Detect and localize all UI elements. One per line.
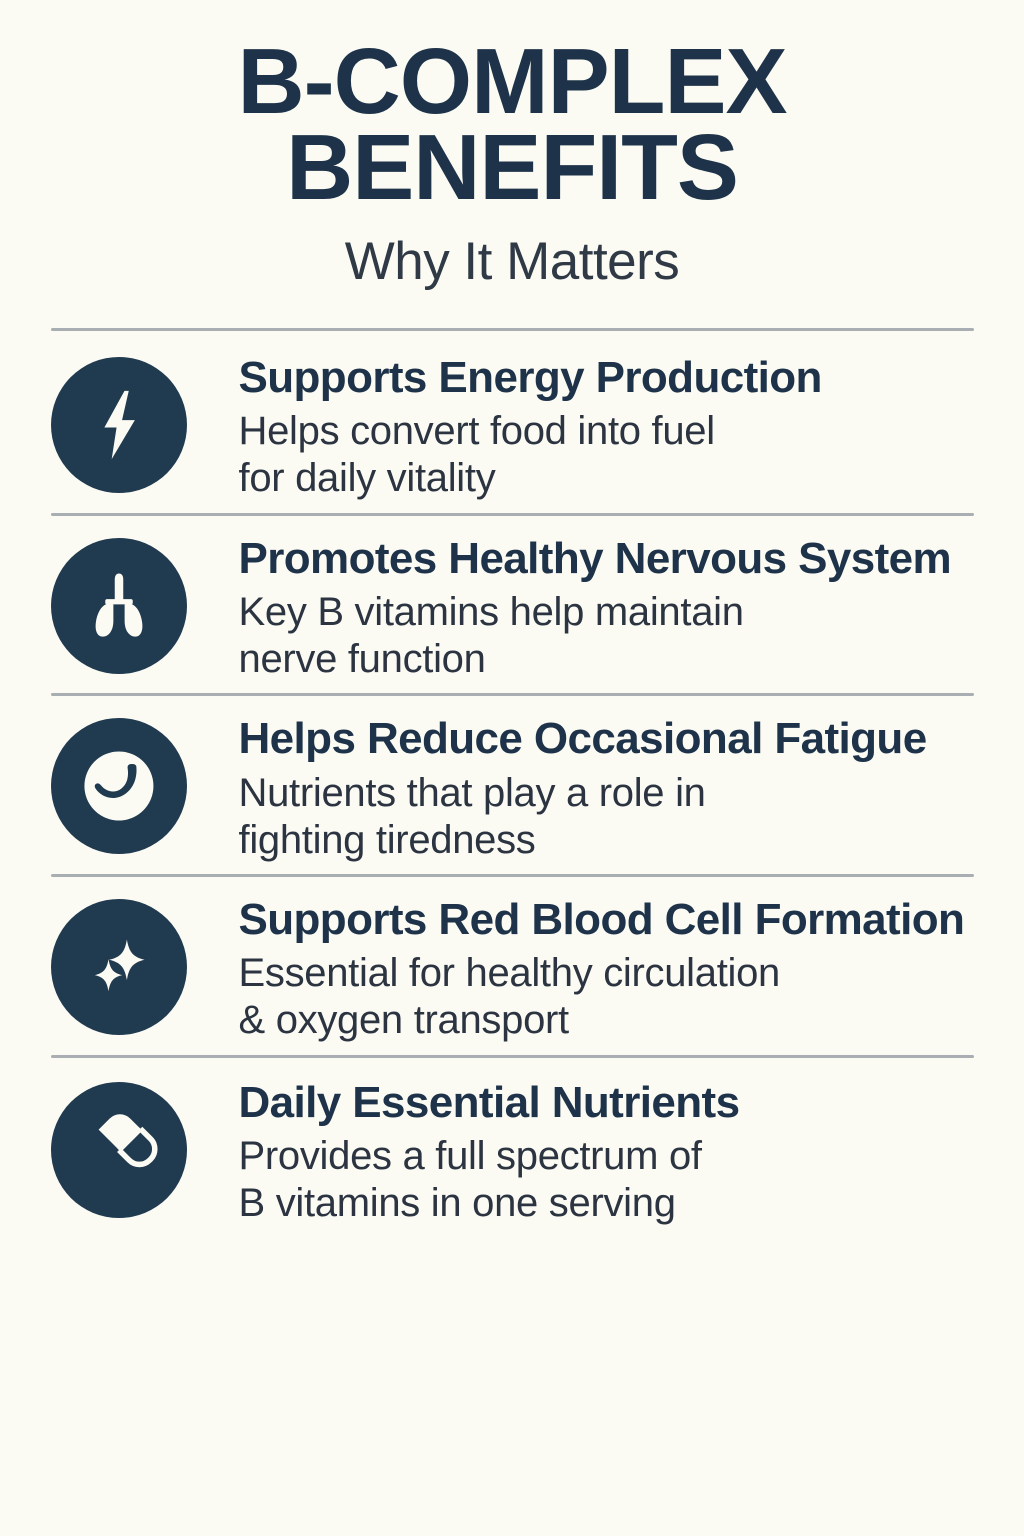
benefit-description-line: Nutrients that play a role in [239,770,974,817]
benefit-icon-wrap [51,710,187,854]
benefit-description: Helps convert food into fuel for daily v… [239,408,974,502]
page-header: B-COMPLEX BENEFITS Why It Matters [0,0,1024,288]
benefit-title: Helps Reduce Occasional Fatigue [239,714,974,763]
benefit-description-line: fighting tiredness [239,817,974,864]
benefit-text: Helps Reduce Occasional Fatigue Nutrient… [187,710,974,864]
benefit-title-line: Nervous System [615,534,951,583]
benefit-text: Promotes Healthy Nervous System Key B vi… [187,530,974,684]
benefit-description: Nutrients that play a role in fighting t… [239,770,974,864]
lightning-bolt-icon [80,386,158,464]
benefit-text: Supports Red Blood Cell Formation Essent… [187,891,974,1045]
page-subtitle: Why It Matters [0,235,1024,288]
benefit-description: Key B vitamins help maintain nerve funct… [239,589,974,683]
benefit-description-line: Helps convert food into fuel [239,408,974,455]
capsule-pill-icon [77,1108,161,1192]
page-title-line-2: BENEFITS [0,124,1024,210]
benefit-title-line: Fatigue [774,714,926,763]
benefit-icon-wrap [51,1074,187,1218]
benefit-title: Supports Red Blood Cell Formation [239,895,974,944]
icon-circle [51,899,187,1035]
benefit-title: Daily Essential Nutrients [239,1078,974,1127]
benefit-description: Provides a full spectrum of B vitamins i… [239,1133,974,1227]
icon-circle [51,1082,187,1218]
benefit-description-line: Essential for healthy circulation [239,950,974,997]
swirl-icon [73,740,165,832]
benefit-item-daily-nutrients: Daily Essential Nutrients Provides a ful… [51,1058,974,1238]
benefit-icon-wrap [51,530,187,674]
benefit-item-red-blood-cell: Supports Red Blood Cell Formation Essent… [51,877,974,1055]
benefit-text: Daily Essential Nutrients Provides a ful… [187,1074,974,1228]
benefit-title-line: Formation [755,895,965,944]
benefit-title: Promotes Healthy Nervous System [239,534,974,583]
benefit-item-fatigue: Helps Reduce Occasional Fatigue Nutrient… [51,696,974,874]
lungs-icon [79,566,159,646]
page-title: B-COMPLEX BENEFITS [0,38,1024,211]
benefit-item-energy: Supports Energy Production Helps convert… [51,331,974,513]
benefit-text: Supports Energy Production Helps convert… [187,349,974,503]
icon-circle [51,357,187,493]
icon-circle [51,718,187,854]
benefit-title-line: Helps Reduce Occasional [239,714,763,763]
benefit-title-line: Supports Red Blood Cell [239,895,743,944]
benefit-description-line: Key B vitamins help maintain [239,589,974,636]
benefit-description: Essential for healthy circulation & oxyg… [239,950,974,1044]
benefit-description-line: & oxygen transport [239,997,974,1044]
sparkle-icon [77,925,161,1009]
benefit-description-line: for daily vitality [239,455,974,502]
benefit-title-line: Promotes Healthy [239,534,604,583]
icon-circle [51,538,187,674]
benefit-description-line: Provides a full spectrum of [239,1133,974,1180]
benefits-list: Supports Energy Production Helps convert… [0,331,1024,1237]
benefit-icon-wrap [51,891,187,1035]
benefit-item-nervous-system: Promotes Healthy Nervous System Key B vi… [51,516,974,694]
benefit-description-line: B vitamins in one serving [239,1180,974,1227]
page-title-line-1: B-COMPLEX [0,38,1024,124]
benefit-icon-wrap [51,349,187,493]
benefit-description-line: nerve function [239,636,974,683]
benefit-title: Supports Energy Production [239,353,974,402]
